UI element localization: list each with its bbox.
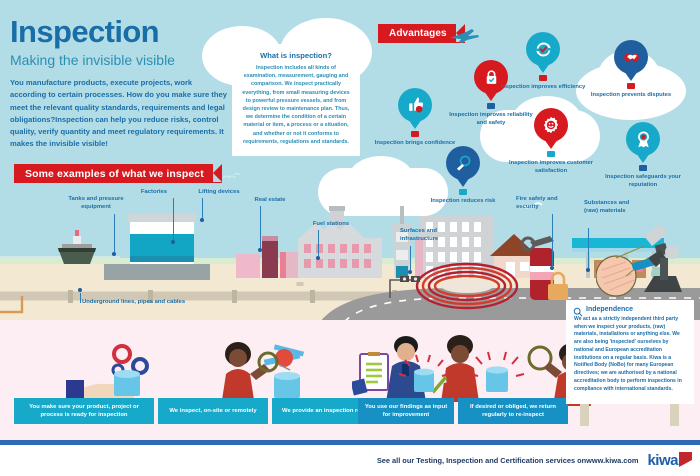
independence-body: We act as a strictly independent third p… bbox=[574, 316, 686, 393]
process-step: You make sure your product, project or p… bbox=[14, 398, 154, 424]
independence-panel: Independence We act as a strictly indepe… bbox=[566, 300, 694, 404]
pin-dot bbox=[258, 248, 262, 252]
factory-icon bbox=[286, 206, 382, 278]
pin-line bbox=[552, 214, 553, 266]
traffic-light-icon bbox=[386, 270, 426, 298]
thumbs-up-icon bbox=[398, 88, 432, 122]
process-step: If desired or obliged, we return regular… bbox=[458, 398, 568, 424]
pin-line bbox=[318, 230, 319, 256]
pin-dot bbox=[78, 288, 82, 292]
balloon-basket bbox=[627, 83, 635, 89]
kiwa-wordmark: kiwa bbox=[647, 452, 678, 469]
what-is-inspection-body: Inspection includes all kinds of examina… bbox=[240, 64, 352, 146]
example-label: Factories bbox=[126, 189, 182, 197]
balloon-basket bbox=[639, 165, 647, 171]
magnifier-icon bbox=[573, 307, 583, 317]
running-track-icon bbox=[412, 258, 522, 312]
process-illustration-4 bbox=[352, 352, 462, 404]
magnifier-icon bbox=[446, 146, 480, 180]
balloon-basket bbox=[411, 131, 419, 137]
footer-url[interactable]: www.kiwa.com bbox=[586, 456, 638, 465]
advantage-label: Inspection prevents disputes bbox=[588, 92, 674, 100]
example-label: Substances and (raw) materials bbox=[584, 200, 636, 215]
what-is-inspection-title: What is inspection? bbox=[240, 51, 352, 60]
infographic-page: Inspection Making the invisible visible … bbox=[0, 0, 700, 476]
pin-dot bbox=[408, 270, 412, 274]
example-label: Fuel stations bbox=[306, 221, 356, 229]
process-step: You use our findings as input for improv… bbox=[358, 398, 454, 424]
kiwa-mark-icon bbox=[679, 452, 692, 467]
pin-line bbox=[260, 206, 261, 248]
advantage-label: Inspection improves customer satisfactio… bbox=[508, 160, 594, 175]
signboard-leg bbox=[580, 404, 589, 426]
airplane-icon bbox=[448, 28, 480, 44]
advantage-item: Inspection brings confidence bbox=[372, 88, 458, 148]
signboard-leg bbox=[670, 404, 679, 426]
pin-line bbox=[410, 246, 411, 270]
award-medal-icon bbox=[626, 122, 660, 156]
footer: See all our Testing, Inspection and Cert… bbox=[0, 445, 700, 476]
fire-extinguisher-icon bbox=[512, 222, 572, 308]
pin-dot bbox=[316, 256, 320, 260]
handshake-icon bbox=[614, 40, 648, 74]
advantage-item: Inspection prevents disputes bbox=[588, 40, 674, 100]
example-label: Real estate bbox=[240, 197, 300, 205]
intro-paragraph: You manufacture products, execute projec… bbox=[10, 77, 228, 151]
pin-dot bbox=[112, 252, 116, 256]
pin-dot bbox=[550, 266, 554, 270]
example-label: Tanks and pressure equipment bbox=[56, 196, 136, 211]
process-illustration-1 bbox=[60, 340, 170, 402]
gear-smiley-icon bbox=[534, 108, 568, 142]
process-step: We inspect, on-site or remotely bbox=[158, 398, 268, 424]
refresh-check-icon bbox=[526, 32, 560, 66]
example-label: Surfaces and infrastructure bbox=[400, 228, 462, 243]
balloon-basket bbox=[539, 75, 547, 81]
advantage-label: Inspection improves efficiency bbox=[500, 84, 586, 92]
pin-line bbox=[80, 293, 81, 303]
advantage-item: Inspection improves customer satisfactio… bbox=[508, 108, 594, 175]
process-step-label: We inspect, on-site or remotely bbox=[158, 398, 268, 424]
example-label: Fire safety and security bbox=[516, 196, 574, 211]
pin-line bbox=[588, 228, 589, 268]
pin-dot bbox=[586, 268, 590, 272]
advantage-item: Inspection improves efficiency bbox=[500, 32, 586, 92]
what-is-inspection-card: What is inspection? Inspection includes … bbox=[232, 44, 360, 156]
process-step-label: If desired or obliged, we return regular… bbox=[458, 398, 568, 424]
ship-icon bbox=[58, 230, 96, 264]
pin-dot bbox=[171, 240, 175, 244]
example-label: Underground lines, pipes and cables bbox=[82, 299, 212, 307]
pin-dot bbox=[200, 218, 204, 222]
signboard-legs bbox=[566, 404, 694, 426]
process-step-label: You use our findings as input for improv… bbox=[358, 398, 454, 424]
pin-line bbox=[202, 198, 203, 218]
silo-group bbox=[236, 236, 293, 278]
pin-line bbox=[114, 214, 115, 252]
pin-line bbox=[173, 198, 174, 240]
balloon-basket bbox=[487, 103, 495, 109]
example-label: Lifting devices bbox=[186, 189, 252, 197]
microscope-icon bbox=[596, 218, 690, 308]
balloon-basket bbox=[547, 151, 555, 157]
independence-title: Independence bbox=[586, 306, 686, 313]
headline-block: Inspection Making the invisible visible … bbox=[10, 16, 240, 151]
process-step-label: You make sure your product, project or p… bbox=[14, 398, 154, 424]
process-illustration-2 bbox=[218, 332, 338, 404]
footer-text: See all our Testing, Inspection and Cert… bbox=[377, 456, 586, 465]
kiwa-logo: kiwa bbox=[647, 452, 692, 469]
